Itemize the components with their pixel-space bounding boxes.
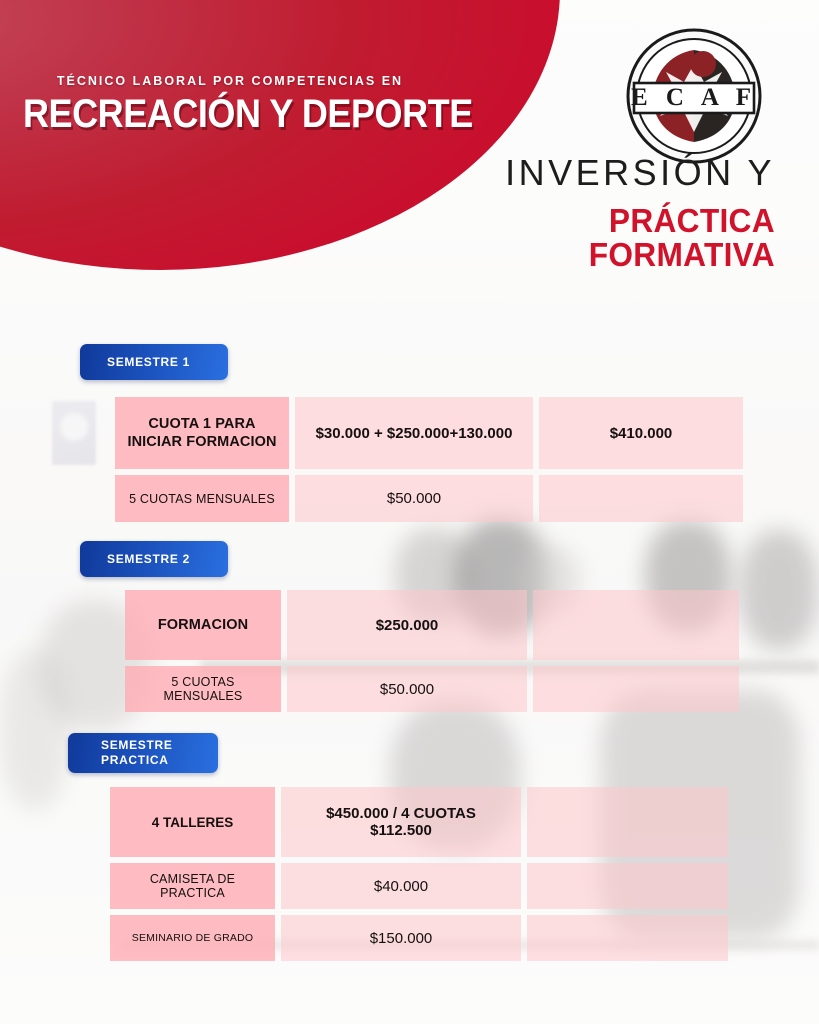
table-semestre-2: FORMACION $250.000 5 CUOTAS MENSUALES $5… [125, 590, 739, 712]
badge-semestre-2[interactable]: SEMESTRE 2 [80, 541, 228, 577]
row-value: $150.000 [281, 915, 521, 961]
badge-semestre-practica-line2: PRACTICA [101, 753, 169, 768]
row-label: 5 CUOTAS MENSUALES [125, 666, 281, 712]
pricing-content: SEMESTRE 1 CUOTA 1 PARA INICIAR FORMACIO… [0, 0, 819, 1024]
badge-semestre-1-label: SEMESTRE 1 [107, 355, 190, 370]
row-total [539, 475, 743, 522]
row-value-line2: $112.500 [370, 822, 432, 839]
badge-semestre-2-label: SEMESTRE 2 [107, 552, 190, 567]
table-row: 5 CUOTAS MENSUALES $50.000 [125, 666, 739, 712]
row-label: CAMISETA DE PRACTICA [110, 863, 275, 909]
row-total [533, 666, 739, 712]
table-row: 4 TALLERES $450.000 / 4 CUOTAS $112.500 [110, 787, 728, 857]
table-row: CAMISETA DE PRACTICA $40.000 [110, 863, 728, 909]
row-value: $50.000 [287, 666, 527, 712]
row-value: $250.000 [287, 590, 527, 660]
table-row: SEMINARIO DE GRADO $150.000 [110, 915, 728, 961]
row-value-line1: $450.000 / 4 CUOTAS [326, 805, 476, 822]
row-total [527, 863, 728, 909]
table-row: CUOTA 1 PARA INICIAR FORMACION $30.000 +… [115, 397, 743, 469]
badge-semestre-practica-line1: SEMESTRE [101, 738, 173, 753]
row-label: 5 CUOTAS MENSUALES [115, 475, 289, 522]
row-value: $450.000 / 4 CUOTAS $112.500 [281, 787, 521, 857]
row-label: 4 TALLERES [110, 787, 275, 857]
row-total: $410.000 [539, 397, 743, 469]
row-label: CUOTA 1 PARA INICIAR FORMACION [115, 397, 289, 469]
row-total [533, 590, 739, 660]
badge-semestre-practica[interactable]: SEMESTRE PRACTICA [68, 733, 218, 773]
table-row: FORMACION $250.000 [125, 590, 739, 660]
table-row: 5 CUOTAS MENSUALES $50.000 [115, 475, 743, 522]
row-value: $30.000 + $250.000+130.000 [295, 397, 533, 469]
row-label: SEMINARIO DE GRADO [110, 915, 275, 961]
row-total [527, 915, 728, 961]
row-total [527, 787, 728, 857]
table-semestre-1: CUOTA 1 PARA INICIAR FORMACION $30.000 +… [115, 397, 743, 522]
table-semestre-practica: 4 TALLERES $450.000 / 4 CUOTAS $112.500 … [110, 787, 728, 961]
row-label: FORMACION [125, 590, 281, 660]
badge-semestre-1[interactable]: SEMESTRE 1 [80, 344, 228, 380]
row-value: $40.000 [281, 863, 521, 909]
row-value: $50.000 [295, 475, 533, 522]
